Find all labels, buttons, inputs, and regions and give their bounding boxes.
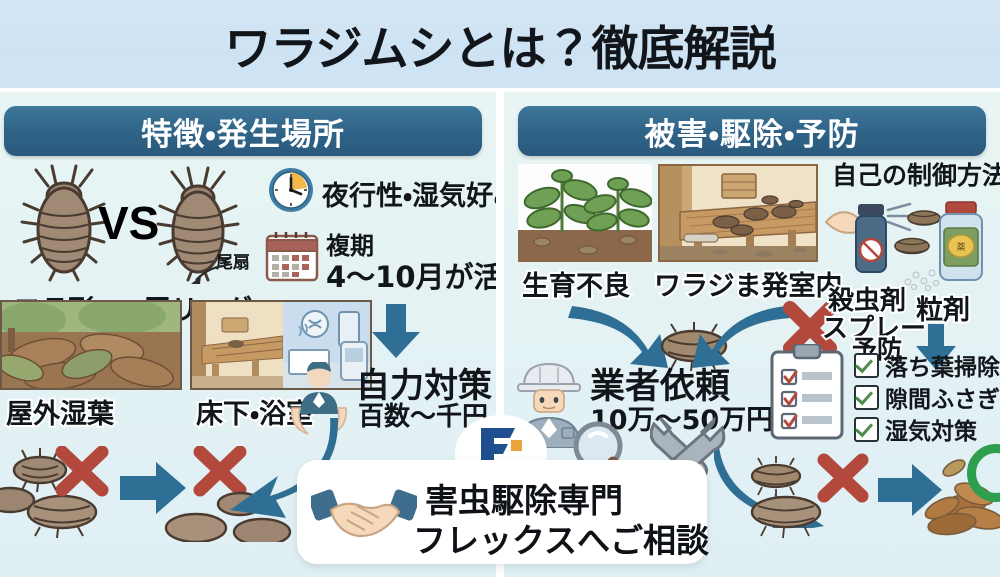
page-title: ワラジムシとは？徹底解説 [224, 10, 775, 79]
nocturnal-humidity-label: 夜行性・湿気好み [322, 174, 496, 213]
checkbox-icon-0 [854, 353, 879, 378]
x-mark-bottom-icon [824, 460, 862, 496]
flex-logo-icon [477, 424, 525, 464]
cta-box[interactable]: 害虫駆除専門 フレックスへご相談 [297, 460, 707, 564]
handshake-icon [311, 480, 417, 546]
fallen-leaves-image [0, 300, 182, 390]
left-section-header-label: 特徴・発生場所 [141, 109, 345, 154]
underfloor-isopods-image [658, 164, 818, 262]
check-row-2: 湿気対策 [854, 412, 977, 446]
calendar-icon [265, 230, 319, 282]
check-label-0: 落ち葉掃除 [885, 348, 1000, 382]
clock-icon [267, 166, 315, 214]
callout-arrow-icon [188, 262, 228, 288]
damaged-plant-image [518, 164, 652, 262]
title-band: ワラジムシとは？徹底解説 [0, 0, 1000, 88]
cta-line-2: フレックスへご相談 [413, 514, 709, 562]
right-section-header-label: 被害・駆除・予防 [644, 109, 859, 154]
svg-text:薬: 薬 [956, 241, 965, 253]
granule-label: 粒剤 [916, 288, 970, 327]
check-row-1: 隙間ふさぎ [854, 380, 1000, 414]
clipboard-icon [770, 344, 844, 440]
arrow-right-icon [120, 462, 186, 514]
check-label-2: 湿気対策 [885, 412, 977, 446]
check-row-0: 落ち葉掃除 [854, 348, 1000, 382]
plant-damage-label: 生育不良 [522, 264, 630, 303]
left-section-header: 特徴・発生場所 [4, 106, 482, 156]
self-control-heading: 自己の制御方法 [832, 156, 1000, 192]
vs-label: VS [98, 196, 159, 250]
check-label-1: 隙間ふさぎ [885, 380, 1000, 414]
checkbox-icon-2 [854, 417, 879, 442]
checkbox-icon-1 [854, 385, 879, 410]
x-mark-icon [62, 452, 102, 490]
outdoor-leaves-label: 屋外湿葉 [6, 392, 114, 431]
season-range-label: 4〜10月が活発 [326, 254, 496, 296]
isopod-wara-icon [18, 164, 110, 282]
arrow-down-self-action-icon [366, 304, 426, 360]
right-bottom-result-row [728, 448, 1000, 558]
infographic-root: ワラジムシとは？徹底解説 特徴・発生場所 ワラ形 VS [0, 0, 1000, 577]
right-section-header: 被害・駆除・予防 [518, 106, 986, 156]
